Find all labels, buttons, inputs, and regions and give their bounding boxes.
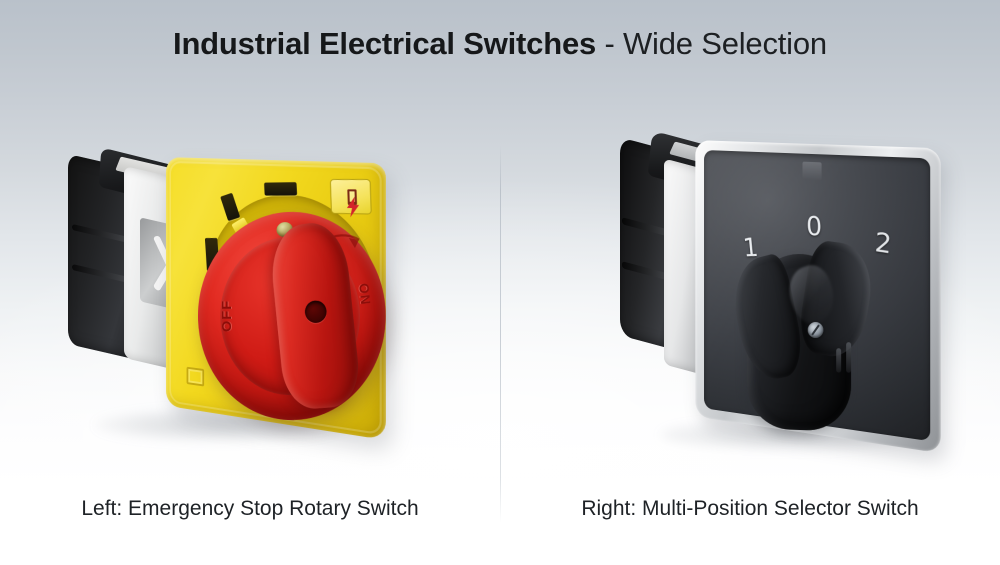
right-product-caption: Right: Multi-Position Selector Switch: [500, 497, 1000, 521]
right-switch-position-2: 2: [874, 228, 893, 261]
right-knob-screw: [808, 322, 824, 338]
right-knob-vent: [846, 342, 851, 373]
right-switch-black-knob[interactable]: [738, 224, 866, 437]
page-title: Industrial Electrical Switches - Wide Se…: [0, 26, 1000, 62]
right-faceplate-tab-top: [802, 162, 821, 181]
panel-divider: [500, 145, 501, 523]
left-knob-label-off: OFF: [219, 300, 234, 332]
right-knob-vent: [836, 348, 841, 372]
left-switch-red-knob[interactable]: OFF ON: [198, 208, 386, 425]
product-photo-canvas: Industrial Electrical Switches - Wide Se…: [0, 0, 1000, 565]
left-faceplate-vent-slot: [264, 182, 297, 195]
left-knob-padlock-hole: [304, 300, 328, 325]
left-knob-label-on: ON: [356, 283, 374, 307]
product-image-emergency-stop-switch: OFF ON: [62, 150, 412, 450]
left-product-caption: Left: Emergency Stop Rotary Switch: [0, 497, 500, 521]
page-title-main: Industrial Electrical Switches: [173, 26, 596, 61]
product-image-selector-switch: 1 0 2: [618, 138, 948, 448]
page-title-sub: - Wide Selection: [596, 26, 827, 61]
